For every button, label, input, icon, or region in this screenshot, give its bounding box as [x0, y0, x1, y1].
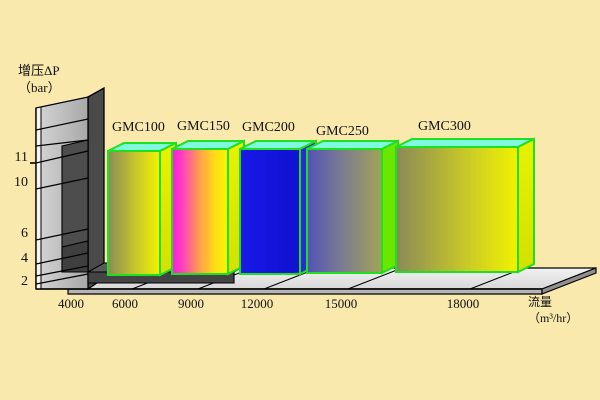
bar-gmc100[interactable]: [108, 143, 176, 275]
bar-gmc250[interactable]: [307, 141, 398, 273]
y-tick-2: 2: [4, 274, 28, 290]
bar-label-gmc300: GMC300: [418, 119, 471, 135]
x-tick-15000: 15000: [314, 296, 368, 312]
bar-gmc150[interactable]: [172, 141, 244, 274]
y-tick-4: 4: [4, 251, 28, 267]
x-axis-title-line1: 流量: [528, 295, 552, 309]
y-axis-title: 增压ΔP （bar）: [18, 62, 61, 96]
bar-label-gmc100: GMC100: [112, 120, 165, 136]
bar-gmc300[interactable]: [396, 139, 534, 272]
y-tick-11: 11: [4, 150, 28, 166]
bar-label-gmc250: GMC250: [316, 124, 369, 140]
bar-gmc200[interactable]: [240, 141, 316, 274]
x-tick-6000: 6000: [98, 296, 152, 312]
y-axis-title-line1: 增压ΔP: [18, 63, 60, 78]
x-tick-9000: 9000: [164, 296, 218, 312]
chart-3d-scene: [0, 0, 600, 400]
chart-canvas: 增压ΔP （bar） 11 10 6 4 2 4000 6000 9000 12…: [0, 0, 600, 400]
x-tick-12000: 12000: [230, 296, 284, 312]
x-axis-title-line2: （m³/hr）: [528, 311, 578, 325]
y-tick-10: 10: [4, 175, 28, 191]
x-axis-title: 流量 （m³/hr）: [528, 294, 578, 326]
x-tick-4000: 4000: [44, 296, 98, 312]
y-tick-6: 6: [4, 226, 28, 242]
x-tick-18000: 18000: [436, 296, 490, 312]
bar-label-gmc150: GMC150: [177, 119, 230, 135]
bar-label-gmc200: GMC200: [242, 120, 295, 136]
y-axis-title-line2: （bar）: [18, 79, 61, 96]
